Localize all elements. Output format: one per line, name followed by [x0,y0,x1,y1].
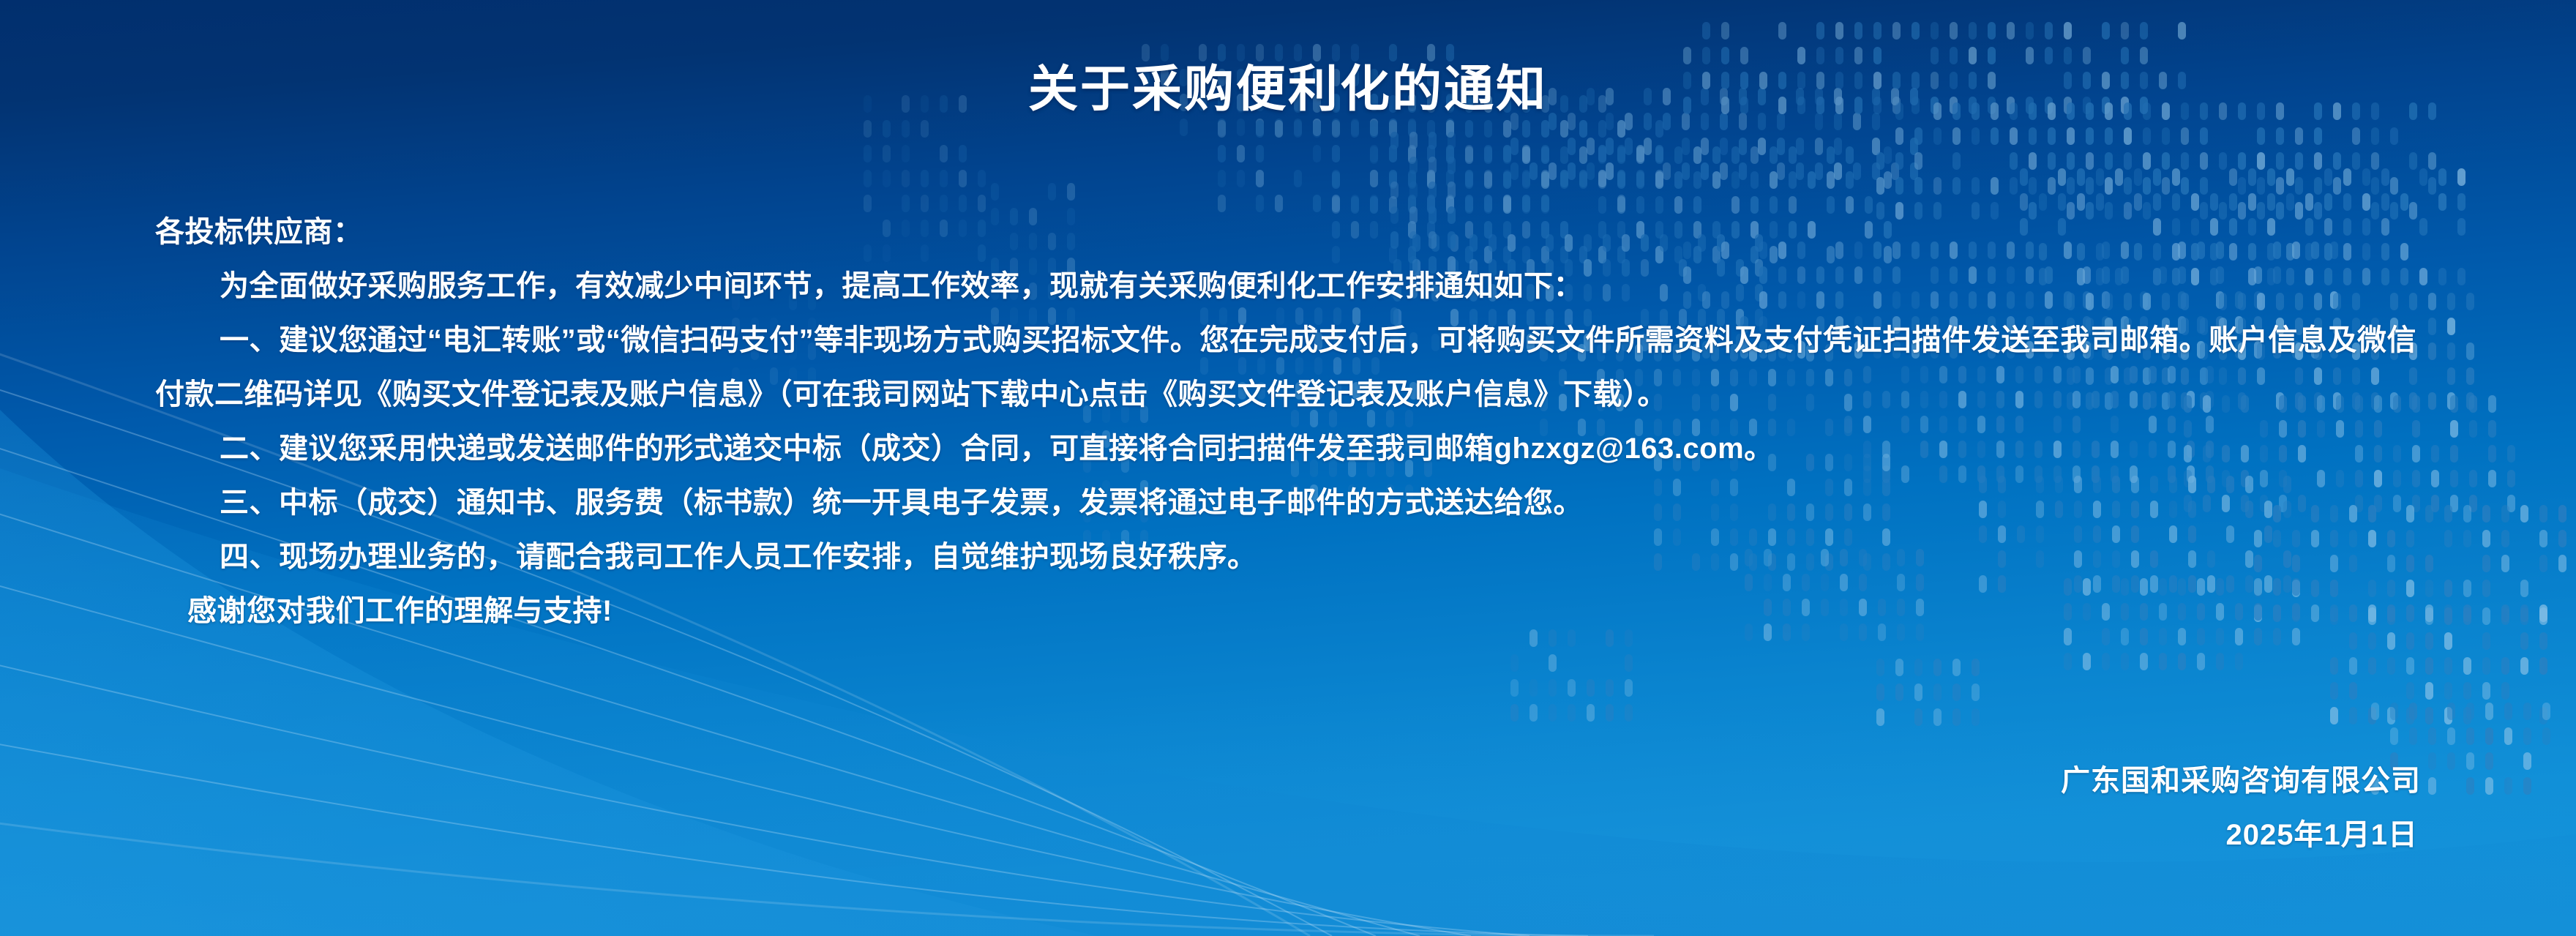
notice-banner: 关于采购便利化的通知 各投标供应商： 为全面做好采购服务工作，有效减少中间环节，… [0,0,2576,936]
notice-paragraph-item-2: 二、建议您采用快递或发送邮件的形式递交中标（成交）合同，可直接将合同扫描件发至我… [155,422,2416,476]
notice-paragraph-item-1: 一、建议您通过“电汇转账”或“微信扫码支付”等非现场方式购买招标文件。您在完成支… [155,313,2416,422]
notice-paragraph-item-3: 三、中标（成交）通知书、服务费（标书款）统一开具电子发票，发票将通过电子邮件的方… [155,476,2416,530]
notice-paragraph-item-4: 四、现场办理业务的，请配合我司工作人员工作安排，自觉维护现场良好秩序。 [155,530,2416,584]
page-title: 关于采购便利化的通知 [0,64,2576,114]
signature-date: 2025年1月1日 [2061,808,2421,862]
signature-block: 广东国和采购咨询有限公司 2025年1月1日 [2061,754,2421,862]
notice-body: 各投标供应商： 为全面做好采购服务工作，有效减少中间环节，提高工作效率，现就有关… [155,205,2416,638]
signature-company: 广东国和采购咨询有限公司 [2061,754,2421,808]
notice-paragraph-intro: 为全面做好采购服务工作，有效减少中间环节，提高工作效率，现就有关采购便利化工作安… [155,259,2416,313]
notice-closing: 感谢您对我们工作的理解与支持! [155,584,2416,638]
notice-content: 关于采购便利化的通知 各投标供应商： 为全面做好采购服务工作，有效减少中间环节，… [0,0,2576,936]
salutation: 各投标供应商： [155,205,2416,259]
